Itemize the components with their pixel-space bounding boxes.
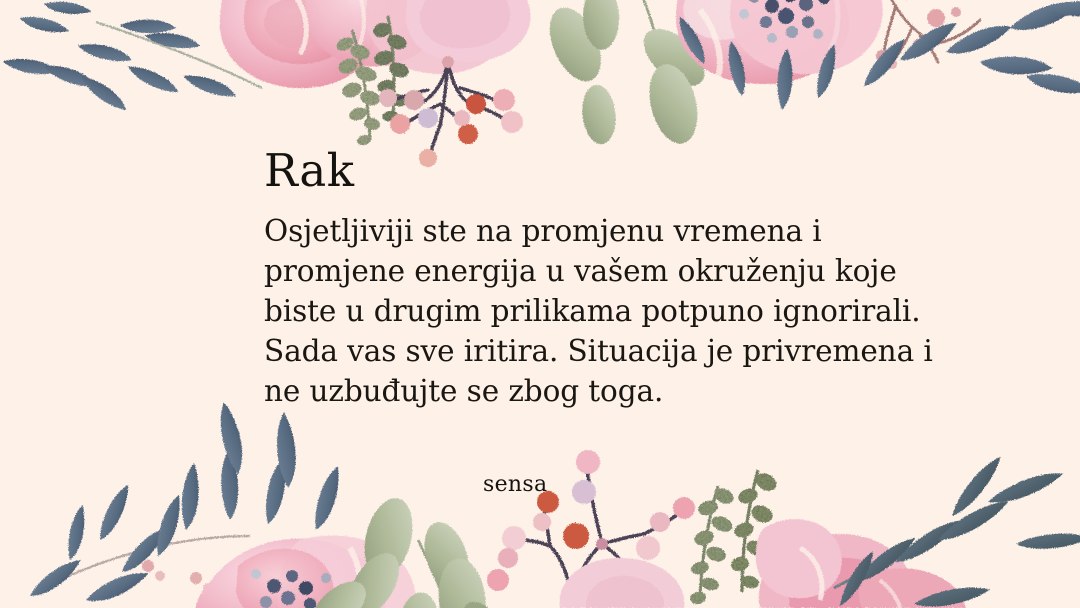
top-left-olive-branch	[2, 0, 262, 117]
top-right-leaf-spray	[676, 0, 1080, 111]
bottom-right-olive-branch	[834, 453, 1080, 608]
top-right-seeded-branch	[876, 0, 980, 69]
top-center-eucalyptus	[540, 0, 776, 149]
horoscope-card: Rak Osjetljiviji ste na promjenu vremena…	[0, 0, 1080, 608]
bottom-center-blossom	[560, 558, 685, 608]
bottom-left-leaf-spray	[25, 401, 349, 606]
bottom-right-blossom	[756, 519, 966, 608]
bottom-center-eucalyptus	[303, 493, 516, 608]
horoscope-text: Osjetljiviji ste na promjenu vremena i p…	[264, 211, 936, 411]
brand-logo: sensa	[483, 474, 547, 496]
top-left-peony	[220, 0, 513, 88]
top-center-bloom	[406, 0, 531, 62]
zodiac-sign-title: Rak	[264, 148, 964, 193]
top-right-peony	[676, 0, 883, 84]
peony-center-speckles	[739, 0, 830, 43]
bottom-center-fern-sprig	[689, 470, 780, 606]
bottom-left-peony	[194, 536, 416, 608]
bottom-peony-center-speckles	[251, 569, 331, 608]
top-center-fern-sprig	[334, 16, 410, 147]
horoscope-content: Rak Osjetljiviji ste na promjenu vremena…	[264, 148, 964, 411]
